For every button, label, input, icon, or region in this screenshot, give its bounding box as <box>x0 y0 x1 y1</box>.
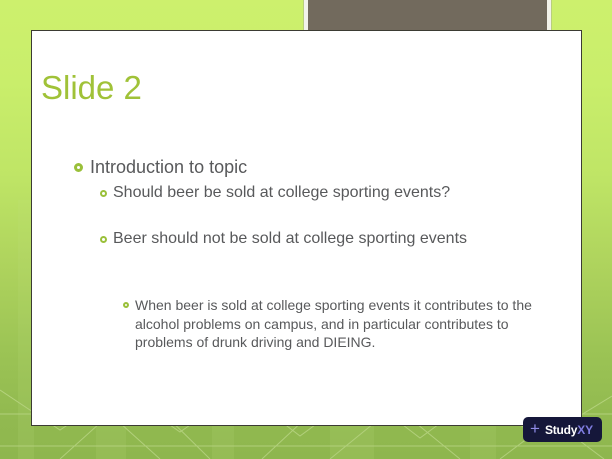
bullet-level3-item: When beer is sold at college sporting ev… <box>123 296 533 352</box>
watermark-name-primary: Study <box>545 423 577 437</box>
presentation-slide: Slide 2 Introduction to topic Should bee… <box>0 0 612 459</box>
bullet-ring-icon <box>100 236 107 243</box>
watermark-name-accent: XY <box>577 423 593 437</box>
bullet-level3-label: When beer is sold at college sporting ev… <box>135 296 533 352</box>
slide-title: Slide 2 <box>41 71 142 104</box>
watermark-label: StudyXY <box>545 423 593 437</box>
bullet-ring-icon <box>123 302 129 308</box>
bullet-level2-label: Should beer be sold at college sporting … <box>113 183 450 203</box>
bullet-level2-label: Beer should not be sold at college sport… <box>113 229 467 249</box>
bullet-ring-icon <box>100 190 107 197</box>
bullet-level2-item: Beer should not be sold at college sport… <box>100 229 550 249</box>
studyxy-watermark[interactable]: + StudyXY <box>523 417 602 442</box>
bullet-level1-label: Introduction to topic <box>90 156 247 179</box>
bullet-level2-item: Should beer be sold at college sporting … <box>100 183 550 203</box>
plus-icon: + <box>530 420 540 437</box>
bullet-ring-icon <box>74 163 83 172</box>
bullet-level1: Introduction to topic <box>74 156 544 179</box>
